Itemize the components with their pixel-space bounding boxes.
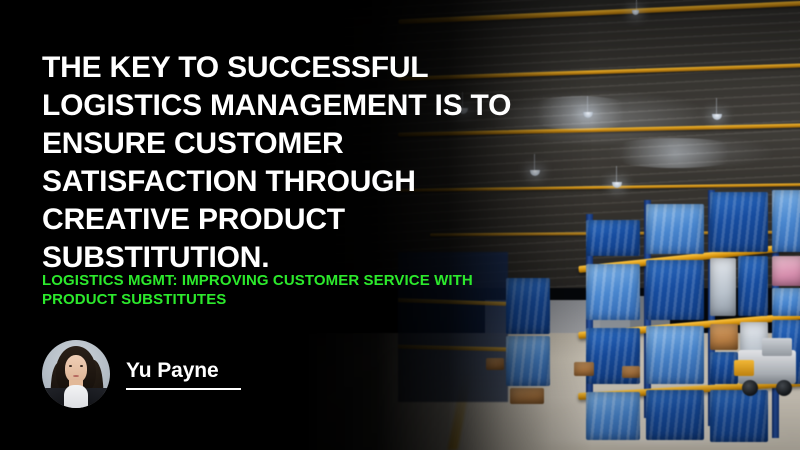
author-name: Yu Payne (126, 359, 241, 383)
article-subtitle: Logistics Mgmt: Improving Customer Servi… (42, 271, 522, 309)
author-name-group: Yu Payne (126, 359, 241, 390)
avatar-face (65, 355, 87, 383)
avatar-eye (80, 365, 83, 367)
quote-card: The key to successful logistics manageme… (0, 0, 800, 450)
avatar (42, 340, 110, 408)
author-byline: Yu Payne (42, 340, 241, 408)
headline-quote: The key to successful logistics manageme… (42, 49, 512, 277)
content-column: The key to successful logistics manageme… (42, 0, 522, 450)
avatar-eye (69, 365, 72, 367)
avatar-lips (73, 375, 79, 377)
author-name-underline (126, 388, 241, 390)
avatar-turtleneck (64, 385, 88, 408)
